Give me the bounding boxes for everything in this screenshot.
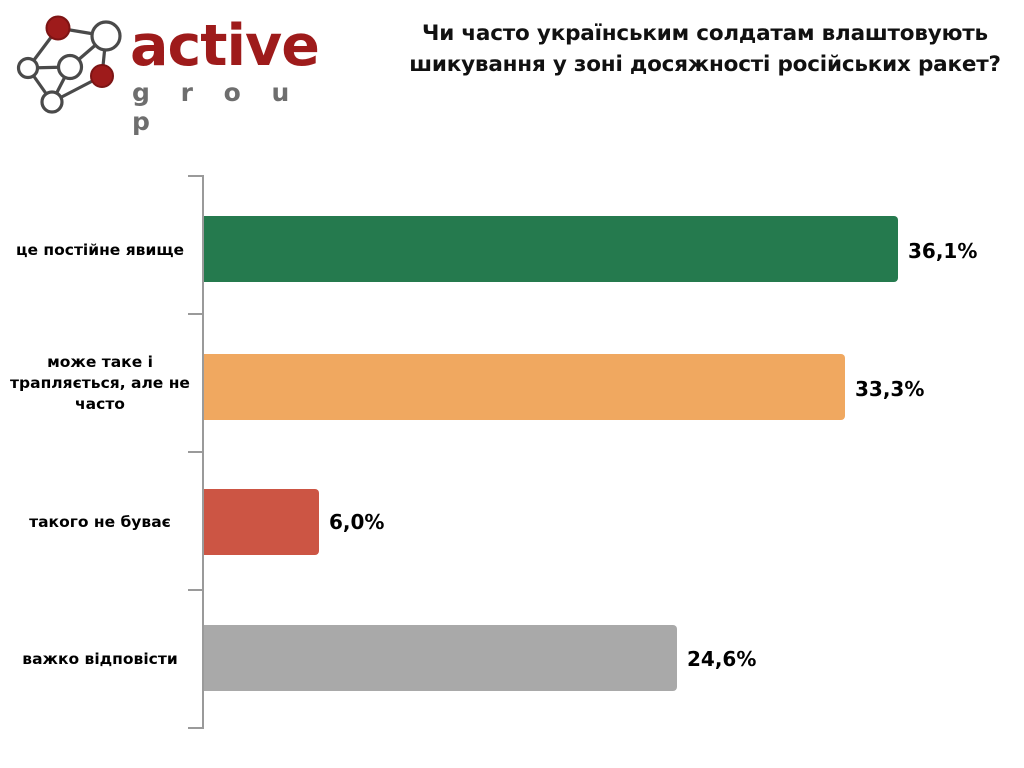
category-label-1-line-1: може таке і xyxy=(10,352,190,373)
bar-value-3: 24,6% xyxy=(687,647,756,671)
category-label-3: важко відповісти xyxy=(10,649,190,670)
axis-tick-3 xyxy=(188,589,202,591)
bar-value-1: 33,3% xyxy=(855,377,924,401)
bar-value-0: 36,1% xyxy=(908,239,977,263)
category-label-1-line-2: трапляється, але не xyxy=(10,373,190,394)
axis-tick-4 xyxy=(188,727,202,729)
category-label-1: може таке і трапляється, але не часто xyxy=(10,352,190,415)
category-label-0-line-1: це постійне явище xyxy=(10,240,190,261)
bar-0 xyxy=(204,216,898,282)
axis-tick-2 xyxy=(188,451,202,453)
category-label-2-line-1: такого не буває xyxy=(10,512,190,533)
bar-1 xyxy=(204,354,845,420)
bar-value-2: 6,0% xyxy=(329,510,384,534)
bar-3 xyxy=(204,625,677,691)
category-label-3-line-1: важко відповісти xyxy=(10,649,190,670)
axis-tick-1 xyxy=(188,313,202,315)
category-label-1-line-3: часто xyxy=(10,394,190,415)
category-label-2: такого не буває xyxy=(10,512,190,533)
category-label-0: це постійне явище xyxy=(10,240,190,261)
axis-tick-0 xyxy=(188,175,202,177)
bar-chart-plot-area: це постійне явище 36,1% може таке і трап… xyxy=(0,0,1024,768)
bar-2 xyxy=(204,489,319,555)
